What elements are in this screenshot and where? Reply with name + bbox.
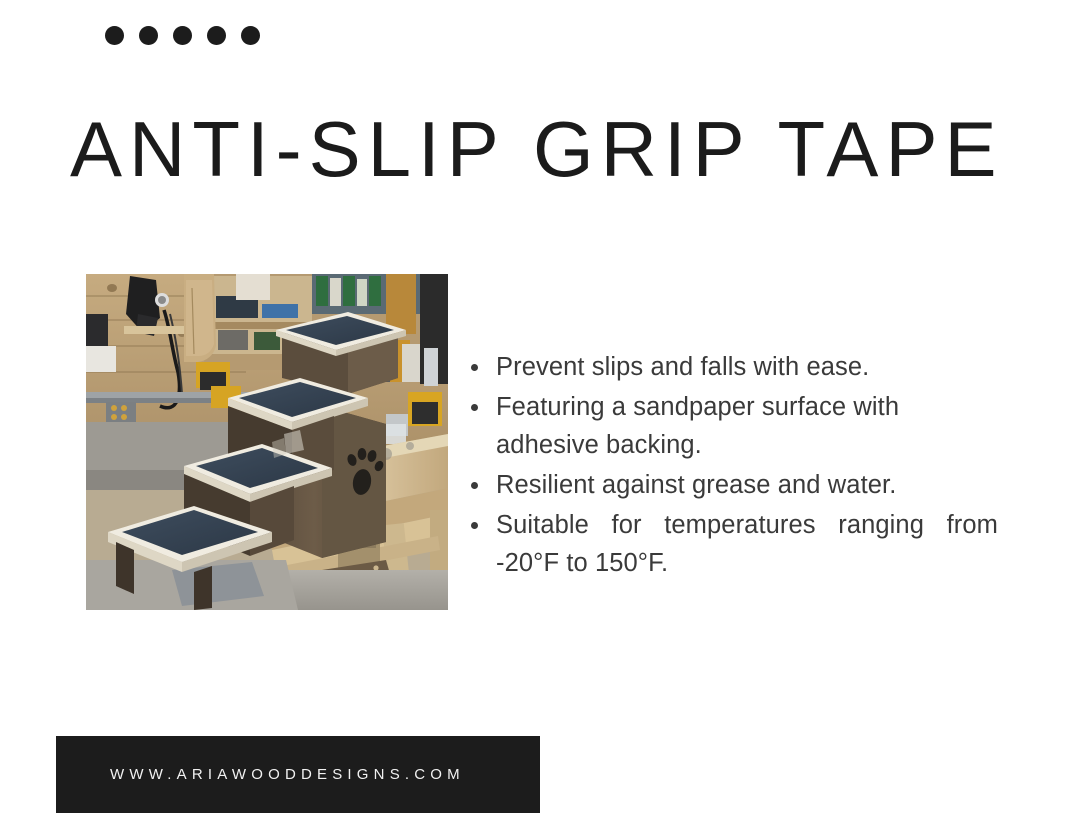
product-photo-image xyxy=(86,274,448,610)
list-item: Resilient against grease and water. xyxy=(466,466,998,504)
decoration-dot-5 xyxy=(241,26,260,45)
list-item: Featuring a sandpaper surface with adhes… xyxy=(466,388,998,464)
slide-canvas: ANTI-SLIP GRIP TAPE xyxy=(0,0,1081,813)
product-photo xyxy=(86,274,448,610)
list-item: Suitable for temperatures ranging from -… xyxy=(466,506,998,582)
decoration-dot-1 xyxy=(105,26,124,45)
dot-row-decoration-icon xyxy=(105,26,260,45)
list-item: Prevent slips and falls with ease. xyxy=(466,348,998,386)
feature-list: Prevent slips and falls with ease. Featu… xyxy=(466,348,998,584)
decoration-dot-4 xyxy=(207,26,226,45)
website-url[interactable]: WWW.ARIAWOODDESIGNS.COM xyxy=(56,766,465,783)
decoration-dot-2 xyxy=(139,26,158,45)
footer-bar: WWW.ARIAWOODDESIGNS.COM xyxy=(56,736,540,813)
page-title: ANTI-SLIP GRIP TAPE xyxy=(70,110,1030,188)
decoration-dot-3 xyxy=(173,26,192,45)
